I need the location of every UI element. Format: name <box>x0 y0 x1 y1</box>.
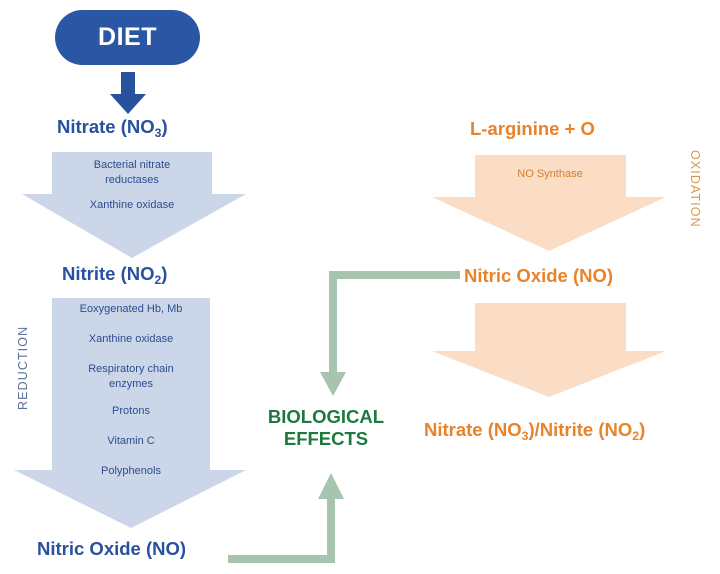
nitrite-text: Nitrite (NO <box>62 263 155 284</box>
no-synthase-label: NO Synthase <box>475 167 625 182</box>
nitrite-reduction-agents: Eoxygenated Hb, Mb Xanthine oxidase Resp… <box>52 302 210 479</box>
diagram-canvas: DIET Nitrate (NO3) Bacterial nitrate red… <box>0 0 720 574</box>
reducing-agent-item: Eoxygenated Hb, Mb <box>52 302 210 317</box>
no-to-nitrate-nitrite-arrow <box>430 303 668 399</box>
nitrite-node-label: Nitrite (NO2) <box>62 264 167 284</box>
oxidation-caption: OXIDATION <box>688 150 702 228</box>
reducing-agent-item: Polyphenols <box>52 464 210 479</box>
nitrate-tail: ) <box>161 116 167 137</box>
final-tail: ) <box>639 419 645 440</box>
reduction-caption: REDUCTION <box>16 326 30 410</box>
nitric-oxide-right-node-label: Nitric Oxide (NO) <box>464 266 613 286</box>
diet-node-label: DIET <box>98 23 157 52</box>
final-text-2: )/Nitrite (NO <box>528 419 632 440</box>
reducing-agent-item: enzymes <box>52 377 210 392</box>
diet-to-nitrate-arrow <box>108 72 148 114</box>
enzyme-item: Bacterial nitrate <box>52 158 212 173</box>
reducing-agent-item: Respiratory chain <box>52 362 210 377</box>
nitrite-subscript: 2 <box>155 273 162 287</box>
final-subscript-2: 2 <box>632 429 639 443</box>
final-subscript-1: 3 <box>522 429 529 443</box>
enzyme-item: Xanthine oxidase <box>52 198 212 213</box>
nitrate-subscript: 3 <box>155 126 162 140</box>
nitric-oxide-left-node-label: Nitric Oxide (NO) <box>37 539 186 559</box>
nitrate-nitrite-node-label: Nitrate (NO3)/Nitrite (NO2) <box>424 420 645 440</box>
biological-effects-label: BIOLOGICAL EFFECTS <box>258 406 394 450</box>
final-text-1: Nitrate (NO <box>424 419 522 440</box>
no-bottom-to-effects-connector <box>228 473 348 563</box>
nitrate-node-label: Nitrate (NO3) <box>57 117 168 137</box>
enzyme-item: reductases <box>52 173 212 188</box>
no-to-effects-connector <box>320 268 460 400</box>
diet-node: DIET <box>55 10 200 65</box>
nitrate-reduction-enzymes: Bacterial nitrate reductases Xanthine ox… <box>52 158 212 213</box>
l-arginine-node-label: L-arginine + O <box>470 119 595 139</box>
nitric-oxide-left-text: Nitric Oxide (NO) <box>37 538 186 559</box>
effects-line-2: EFFECTS <box>258 428 394 450</box>
reducing-agent-item: Xanthine oxidase <box>52 332 210 347</box>
nitrite-tail: ) <box>161 263 167 284</box>
reducing-agent-item: Vitamin C <box>52 434 210 449</box>
nitrate-text: Nitrate (NO <box>57 116 155 137</box>
reducing-agent-item: Protons <box>52 404 210 419</box>
effects-line-1: BIOLOGICAL <box>258 406 394 428</box>
